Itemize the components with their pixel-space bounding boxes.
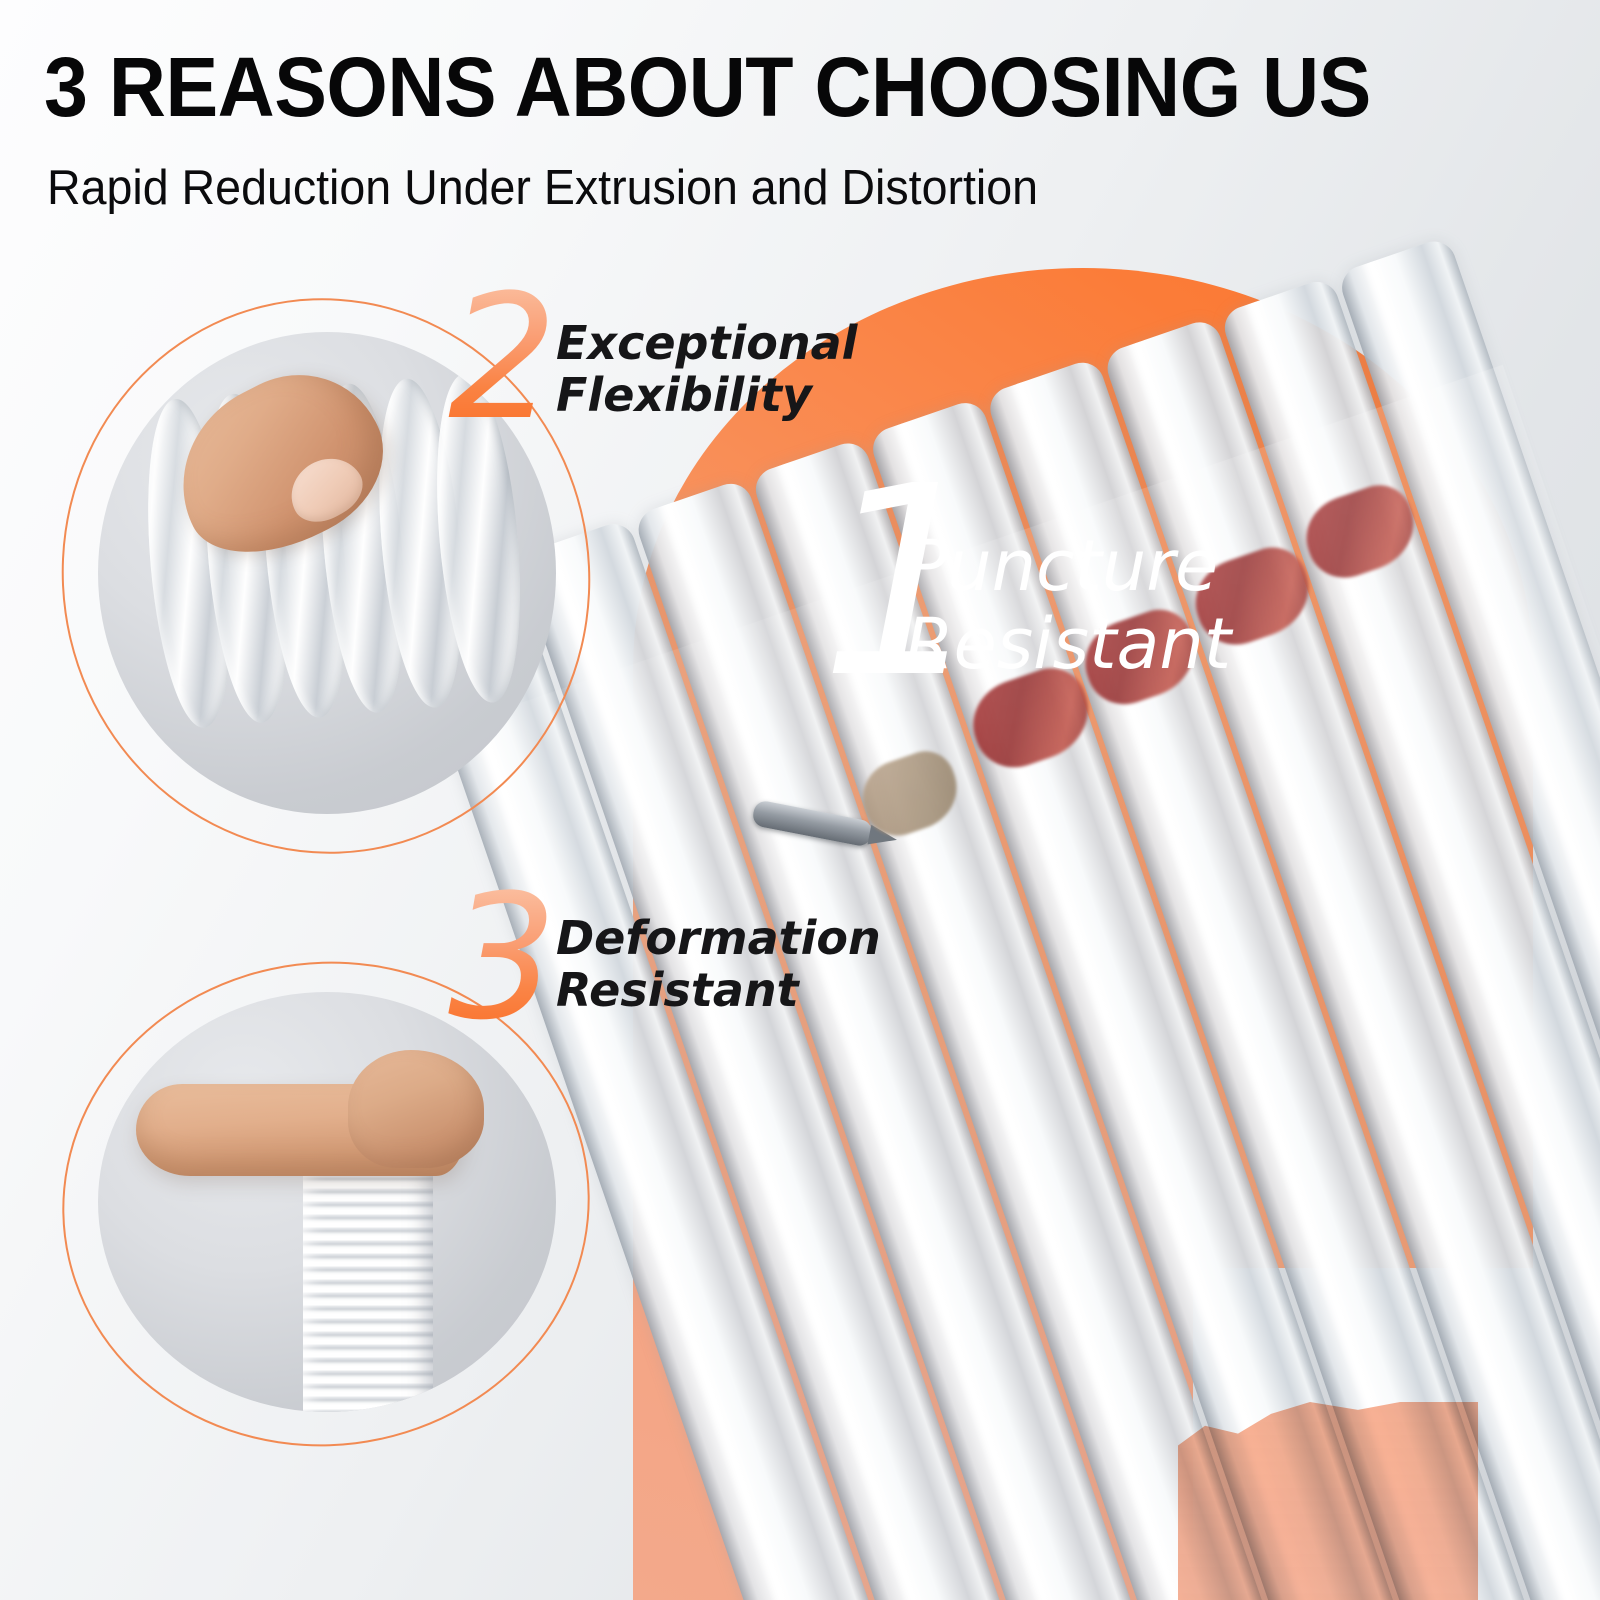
poster-canvas: 3 REASONS ABOUT CHOOSING US Rapid Reduct…	[0, 0, 1600, 1600]
page-title: 3 REASONS ABOUT CHOOSING US	[44, 46, 1371, 128]
feature-label-exceptional-flexibility: Exceptional Flexibility	[556, 318, 857, 421]
page-subtitle: Rapid Reduction Under Extrusion and Dist…	[47, 163, 1038, 214]
feature-number-3: 3	[448, 872, 557, 1044]
feature-number-2: 2	[448, 272, 557, 444]
feature-label-deformation-resistant: Deformation Resistant	[556, 913, 881, 1016]
orange-bleed-overlay	[1178, 1402, 1478, 1600]
feature-label-puncture-resistant: Puncture Resistant	[905, 527, 1231, 684]
